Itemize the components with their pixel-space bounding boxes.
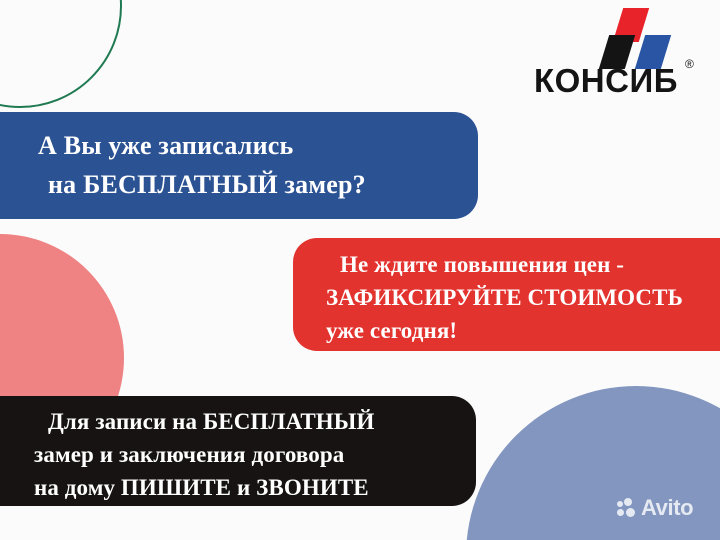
banner-red-line-2: ЗАФИКСИРУЙТЕ СТОИМОСТЬ xyxy=(326,281,720,314)
banner-red-line-3: уже сегодня! xyxy=(326,314,720,347)
banner-blue-headline: А Вы уже записались на БЕСПЛАТНЫЙ замер? xyxy=(0,112,478,219)
banner-blue-line-1: А Вы уже записались xyxy=(38,126,478,165)
banner-red-line-1: Не ждите повышения цен - xyxy=(326,248,720,281)
banner-black-line-2: замер и заключения договора xyxy=(34,438,476,471)
banner-blue-line-2: на БЕСПЛАТНЫЙ замер? xyxy=(38,165,478,204)
green-ring-decoration xyxy=(0,0,122,108)
banner-red-urgency: Не ждите повышения цен - ЗАФИКСИРУЙТЕ СТ… xyxy=(293,238,720,351)
avito-watermark: Avito xyxy=(617,497,693,519)
logo-wordmark: КОНСИБ xyxy=(534,64,694,97)
logo-mark-group xyxy=(590,6,676,68)
banner-black-line-3: на дому ПИШИТЕ и ЗВОНИТЕ xyxy=(34,471,476,504)
avito-dots-icon xyxy=(617,498,637,518)
advertisement-canvas: КОНСИБ ® А Вы уже записались на БЕСПЛАТН… xyxy=(0,0,720,540)
banner-black-line-1: Для записи на БЕСПЛАТНЫЙ xyxy=(34,405,476,438)
banner-black-cta: Для записи на БЕСПЛАТНЫЙ замер и заключе… xyxy=(0,396,476,506)
avito-wordmark: Avito xyxy=(641,497,693,519)
company-logo: КОНСИБ ® xyxy=(534,6,706,106)
registered-trademark-icon: ® xyxy=(685,57,694,71)
